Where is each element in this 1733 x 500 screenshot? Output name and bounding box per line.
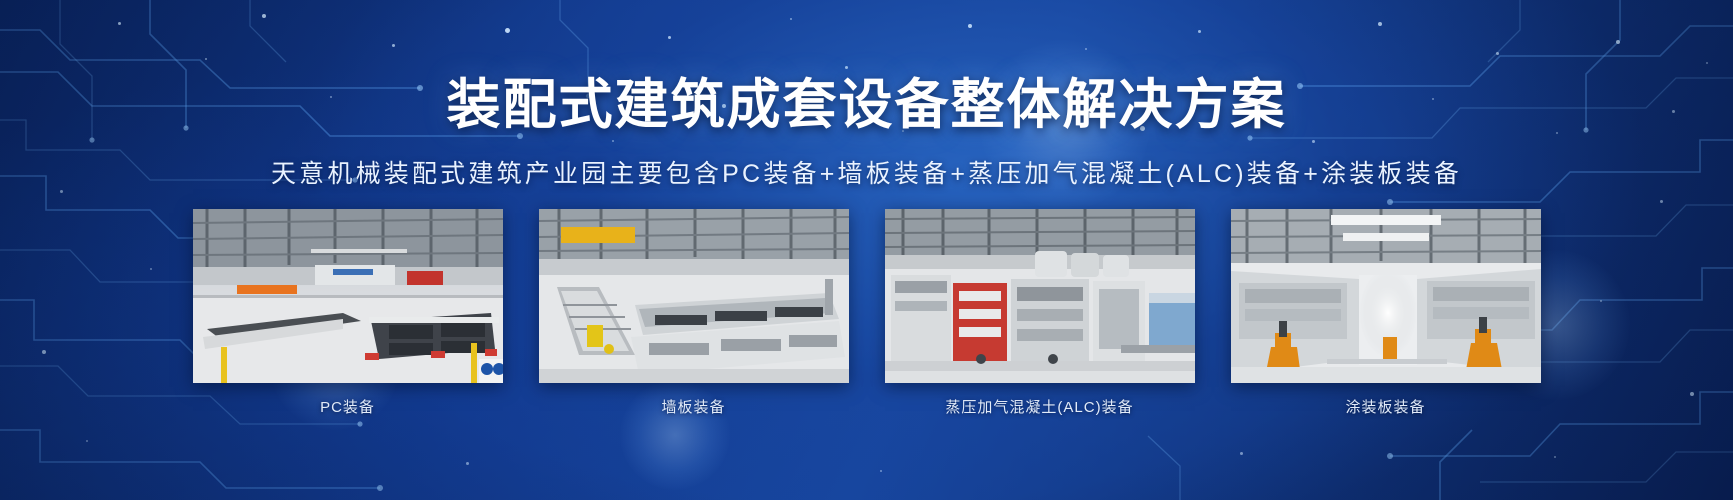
pc-equipment-photo[interactable]: [193, 209, 503, 383]
list-item[interactable]: PC装备: [193, 209, 503, 417]
list-item[interactable]: 涂装板装备: [1231, 209, 1541, 417]
list-item[interactable]: 墙板装备: [539, 209, 849, 417]
alc-equipment-photo[interactable]: [885, 209, 1195, 383]
list-item-caption: 墙板装备: [661, 396, 725, 417]
list-item-caption: 涂装板装备: [1345, 396, 1425, 417]
page-subtitle: 天意机械装配式建筑产业园主要包含PC装备+墙板装备+蒸压加气混凝土(ALC)装备…: [271, 154, 1462, 190]
equipment-card-list: PC装备: [193, 209, 1541, 417]
list-item-caption: PC装备: [320, 396, 375, 417]
list-item-caption: 蒸压加气混凝土(ALC)装备: [945, 396, 1133, 417]
wallboard-equipment-photo[interactable]: [539, 209, 849, 383]
coated-board-equipment-photo[interactable]: [1231, 209, 1541, 383]
promo-banner: 装配式建筑成套设备整体解决方案 天意机械装配式建筑产业园主要包含PC装备+墙板装…: [0, 0, 1733, 500]
page-title: 装配式建筑成套设备整体解决方案: [447, 60, 1287, 139]
list-item[interactable]: 蒸压加气混凝土(ALC)装备: [885, 209, 1195, 417]
